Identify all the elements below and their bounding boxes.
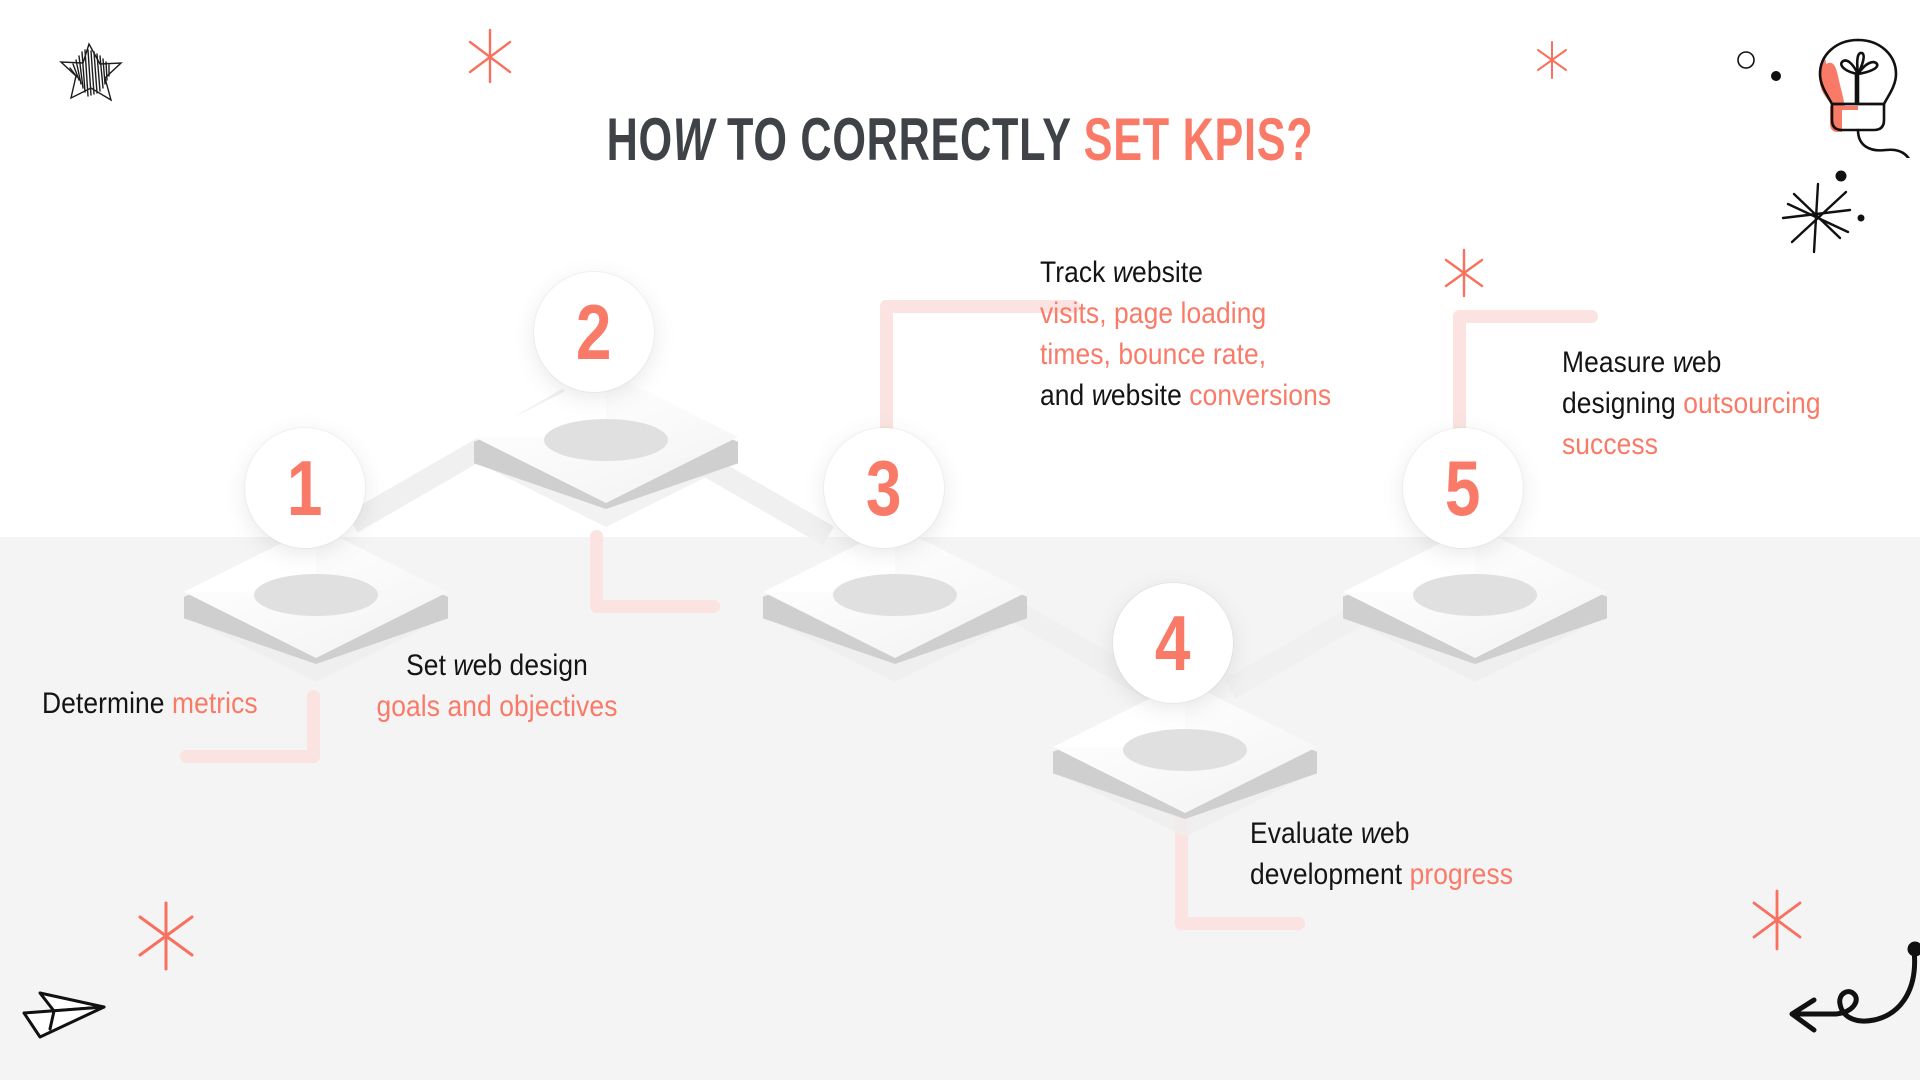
caption-run: development: [1250, 858, 1410, 891]
step-caption-5: Measure webdesigning outsourcingsuccess: [1562, 342, 1821, 465]
dot-filled-doodle: [1768, 68, 1786, 86]
caption-run: Set: [406, 649, 453, 682]
caption-line: Measure web: [1562, 342, 1821, 383]
platform-disc: [1123, 729, 1247, 771]
platform-disc: [833, 574, 957, 616]
caption-line: and website conversions: [1040, 375, 1331, 416]
caption-run: w: [453, 649, 472, 682]
starburst-scribble-doodle: [1778, 180, 1860, 256]
scribbled-star-doodle: [55, 38, 125, 108]
caption-run: goals and objectives: [376, 690, 617, 723]
platform-disc: [544, 419, 668, 461]
caption-run: visits, page loading: [1040, 297, 1266, 330]
caption-line: Track website: [1040, 252, 1331, 293]
caption-run: Measure: [1562, 346, 1673, 379]
dot-filled-small-doodle: [1855, 212, 1869, 226]
title-part-2: TO CORRECTLY: [714, 106, 1083, 173]
infographic-canvas: HOW TO CORRECTLY SET KPIS?: [0, 0, 1920, 1080]
caption-line: Determine metrics: [42, 683, 258, 724]
caption-run: eb: [1380, 817, 1410, 850]
caption-run: Track: [1040, 256, 1113, 289]
caption-run: w: [1361, 817, 1380, 850]
caption-run: eb design: [473, 649, 588, 682]
caption-run: metrics: [172, 687, 258, 720]
dot-filled-lower-doodle: [1833, 168, 1851, 186]
step-caption-3: Track websitevisits, page loadingtimes, …: [1040, 252, 1331, 416]
page-title: HOW TO CORRECTLY SET KPIS?: [269, 110, 1651, 170]
connector-step-2: [590, 530, 720, 620]
caption-run: and: [1040, 379, 1092, 412]
caption-run: eb: [1692, 346, 1722, 379]
caption-line: Set web design: [356, 645, 638, 686]
title-part-3: SET KPIS?: [1084, 106, 1314, 173]
caption-line: success: [1562, 424, 1821, 465]
step-bubble-4[interactable]: 4: [1113, 583, 1233, 703]
step-caption-4: Evaluate webdevelopment progress: [1250, 813, 1513, 895]
caption-run: ebsite: [1111, 379, 1189, 412]
caption-run: Determine: [42, 687, 172, 720]
step-number-2: 2: [576, 293, 612, 371]
caption-run: success: [1562, 428, 1658, 461]
coral-asterisk-mid-doodle: [1442, 248, 1486, 298]
caption-run: Evaluate: [1250, 817, 1361, 850]
caption-run: progress: [1410, 858, 1513, 891]
caption-line: designing outsourcing: [1562, 383, 1821, 424]
step-number-5: 5: [1445, 449, 1481, 527]
title-part-1: HO: [607, 106, 673, 173]
coral-asterisk-doodle: [466, 28, 514, 84]
step-number-4: 4: [1155, 604, 1191, 682]
step-bubble-2[interactable]: 2: [534, 272, 654, 392]
step-bubble-5[interactable]: 5: [1403, 428, 1523, 548]
caption-line: times, bounce rate,: [1040, 334, 1331, 375]
caption-run: outsourcing: [1683, 387, 1820, 420]
step-number-1: 1: [287, 449, 323, 527]
step-number-3: 3: [866, 449, 902, 527]
lightbulb-doodle: [1794, 28, 1920, 158]
caption-run: w: [1673, 346, 1692, 379]
caption-run: w: [1113, 256, 1132, 289]
caption-line: development progress: [1250, 854, 1513, 895]
caption-run: designing: [1562, 387, 1683, 420]
caption-run: times, bounce rate,: [1040, 338, 1266, 371]
caption-run: conversions: [1189, 379, 1331, 412]
platform-disc: [254, 574, 378, 616]
platform-disc: [1413, 574, 1537, 616]
step-caption-2: Set web designgoals and objectives: [356, 645, 638, 727]
step-bubble-3[interactable]: 3: [824, 428, 944, 548]
caption-run: ebsite: [1132, 256, 1203, 289]
caption-line: Evaluate web: [1250, 813, 1513, 854]
dot-outline-doodle: [1735, 48, 1765, 74]
caption-line: visits, page loading: [1040, 293, 1331, 334]
step-caption-1: Determine metrics: [42, 683, 258, 724]
title-part-1-italic: W: [673, 106, 715, 173]
caption-line: goals and objectives: [356, 686, 638, 727]
coral-asterisk-small-doodle: [1535, 40, 1569, 80]
caption-run: w: [1092, 379, 1111, 412]
step-bubble-1[interactable]: 1: [245, 428, 365, 548]
